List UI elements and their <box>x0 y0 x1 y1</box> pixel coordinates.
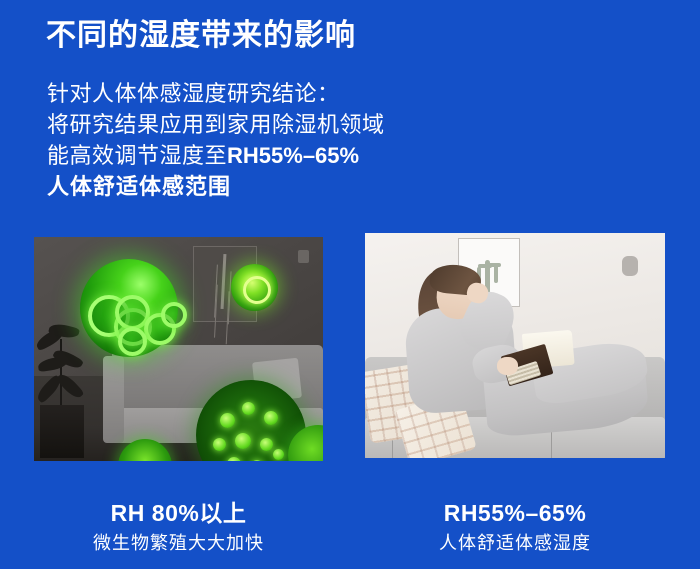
woman-reading <box>365 233 665 458</box>
page-title: 不同的湿度带来的影响 <box>46 18 356 54</box>
caption-high-humidity: RH 80%以上 微生物繁殖大大加快 <box>34 498 323 556</box>
body-line-4: 人体舒适体感范围 <box>47 171 385 202</box>
body-line-2: 将研究结果应用到家用除湿机领域 <box>47 109 385 140</box>
photo-comfort-humidity <box>365 233 665 458</box>
microbe-spore <box>273 449 284 460</box>
wall-switch-icon <box>298 250 309 263</box>
body-line-3-emphasis: RH55%–65% <box>227 143 359 168</box>
caption-comfort-humidity: RH55%–65% 人体舒适体感湿度 <box>365 498 665 556</box>
microbe-spore <box>235 433 251 449</box>
microbe-spore <box>213 438 226 451</box>
microbe-spore <box>251 460 263 461</box>
caption-title: RH55%–65% <box>365 498 665 528</box>
microbe-small-icon <box>231 264 278 311</box>
body-line-3-prefix: 能高效调节湿度至 <box>47 143 227 168</box>
potted-plant <box>34 322 103 461</box>
caption-subtitle: 人体舒适体感湿度 <box>365 531 665 556</box>
microbe-cell-icon <box>161 302 187 328</box>
plant-pot <box>40 405 84 458</box>
microbe-spore <box>220 413 235 428</box>
bright-room-scene <box>365 233 665 458</box>
body-line-1: 针对人体体感湿度研究结论： <box>47 78 385 109</box>
poster-root: 不同的湿度带来的影响 针对人体体感湿度研究结论： 将研究结果应用到家用除湿机领域… <box>0 0 700 569</box>
microbe-spore <box>242 402 255 415</box>
body-copy: 针对人体体感湿度研究结论： 将研究结果应用到家用除湿机领域 能高效调节湿度至RH… <box>47 78 385 202</box>
caption-subtitle: 微生物繁殖大大加快 <box>34 531 323 556</box>
microbe-spore <box>264 411 278 425</box>
microbe-spore <box>260 438 273 451</box>
caption-title: RH 80%以上 <box>34 498 323 528</box>
body-line-3: 能高效调节湿度至RH55%–65% <box>47 140 385 171</box>
dark-room-scene <box>34 237 323 461</box>
photo-high-humidity <box>34 237 323 461</box>
hand-holding-book <box>497 357 518 375</box>
microbe-spore <box>227 457 241 461</box>
sofa-arm <box>103 356 123 443</box>
microbe-cell-icon <box>118 327 147 356</box>
